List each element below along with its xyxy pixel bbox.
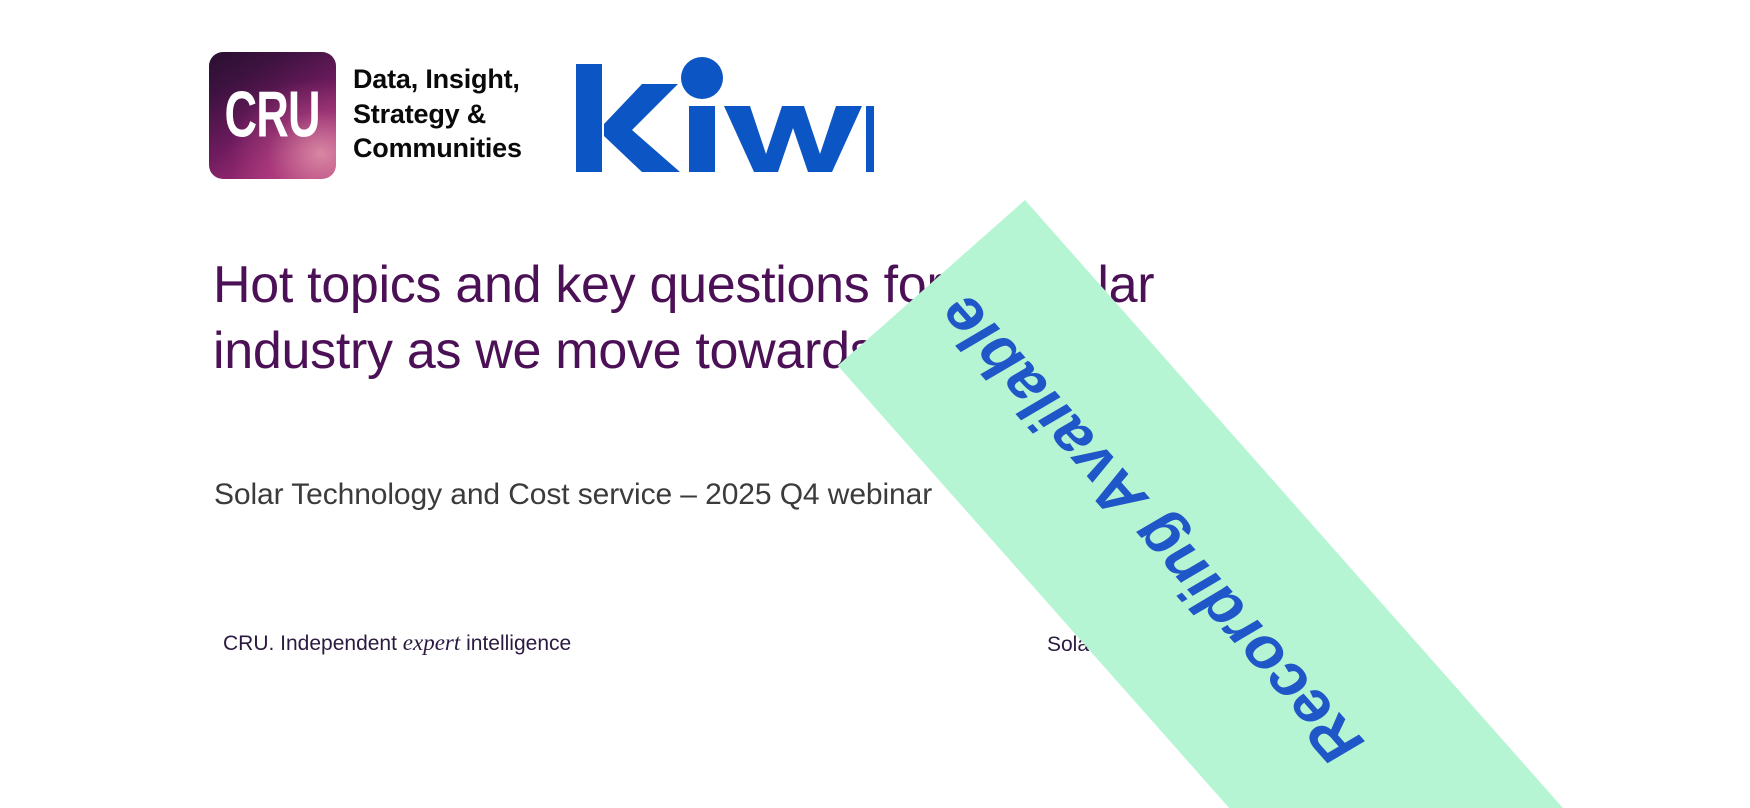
page-subtitle: Solar Technology and Cost service – 2025… bbox=[214, 475, 932, 515]
cru-logo-mark-letters: CRU bbox=[225, 82, 320, 147]
page-title: Hot topics and key questions for the sol… bbox=[213, 252, 1233, 384]
cru-logo-mark-text: CRU bbox=[209, 87, 336, 142]
cru-tagline-line-3: Communities bbox=[353, 131, 522, 166]
kiwa-wordmark-icon bbox=[574, 56, 874, 176]
logo-row: CRU Data, Insight, Strategy & Communitie… bbox=[209, 52, 874, 181]
footer-service-name: Solar Technology and Cost Service bbox=[1047, 631, 1373, 659]
cru-tagline-line-2: Strategy & bbox=[353, 97, 522, 132]
cru-tagline-line-1: Data, Insight, bbox=[353, 62, 522, 97]
footer-tagline: CRU. Independent expert intelligence bbox=[223, 629, 571, 658]
footer-tagline-prefix: CRU. Independent bbox=[223, 632, 403, 655]
cru-logo-mark: CRU bbox=[209, 52, 336, 179]
cru-logo: CRU Data, Insight, Strategy & Communitie… bbox=[209, 52, 522, 179]
kiwa-logo bbox=[574, 56, 874, 181]
slide-canvas: CRU Data, Insight, Strategy & Communitie… bbox=[0, 0, 1750, 808]
footer-tagline-suffix: intelligence bbox=[460, 632, 571, 655]
footer-tagline-emphasis: expert bbox=[403, 630, 460, 655]
cru-tagline: Data, Insight, Strategy & Communities bbox=[353, 62, 522, 166]
